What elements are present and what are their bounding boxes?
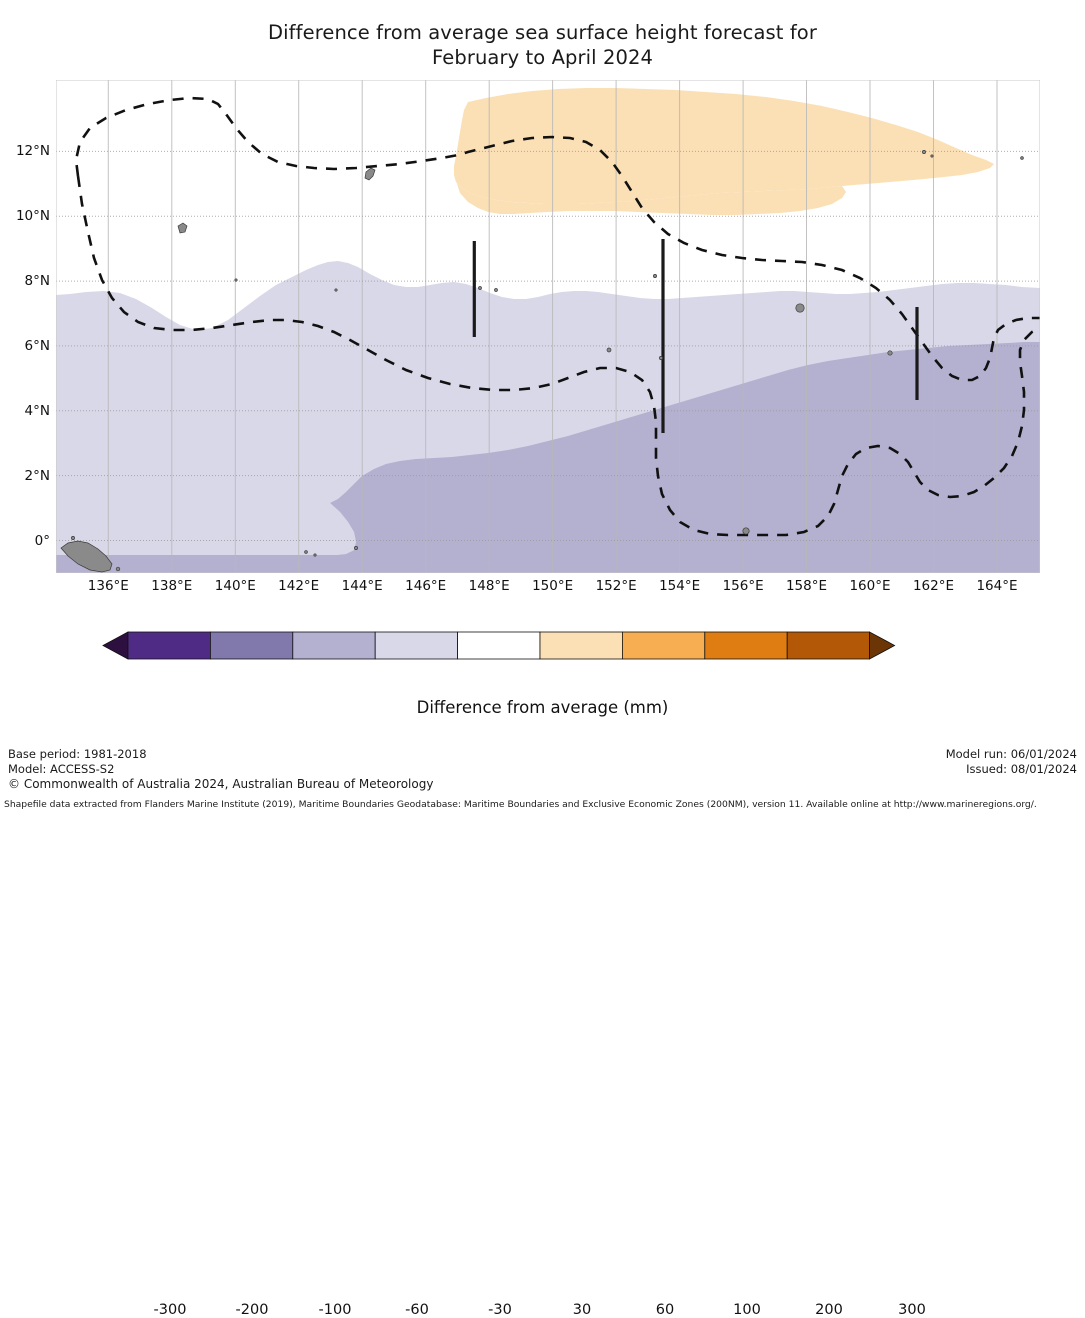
map-plot-area bbox=[56, 80, 1040, 573]
colorbar-tick-label: -100 bbox=[319, 1302, 352, 1318]
y-tick-label: 2°N bbox=[25, 468, 50, 484]
x-tick-label: 160°E bbox=[849, 578, 890, 594]
y-tick-label: 8°N bbox=[25, 273, 50, 289]
footer-right: Model run: 06/01/2024 Issued: 08/01/2024 bbox=[946, 747, 1077, 776]
x-tick-label: 140°E bbox=[215, 578, 256, 594]
colorbar-tick-label: 300 bbox=[898, 1302, 926, 1318]
colorbar-tick-label: -300 bbox=[154, 1302, 187, 1318]
x-tick-label: 148°E bbox=[469, 578, 510, 594]
colorbar-axis-label: Difference from average (mm) bbox=[0, 698, 1085, 717]
sea-surface-height-forecast-figure: Difference from average sea surface heig… bbox=[0, 0, 1085, 816]
colorbar-swatch-30-60 bbox=[540, 632, 622, 659]
colorbar-tick-label: -60 bbox=[405, 1302, 429, 1318]
x-tick-label: 152°E bbox=[596, 578, 637, 594]
colorbar-extend-high bbox=[870, 632, 895, 659]
colorbar-swatch-n30-30 bbox=[458, 632, 540, 659]
y-tick-label: 6°N bbox=[25, 338, 50, 354]
colorbar-swatch-100-200 bbox=[705, 632, 787, 659]
colorbar-swatch-n60-n30 bbox=[375, 632, 457, 659]
colorbar-tick-label: 30 bbox=[573, 1302, 591, 1318]
model-run-text: Model run: 06/01/2024 bbox=[946, 747, 1077, 762]
x-tick-label: 158°E bbox=[786, 578, 827, 594]
title-line-1: Difference from average sea surface heig… bbox=[0, 20, 1085, 45]
base-period-text: Base period: 1981-2018 bbox=[8, 747, 147, 762]
page-title: Difference from average sea surface heig… bbox=[0, 20, 1085, 70]
colorbar-tick-label: 60 bbox=[656, 1302, 674, 1318]
colorbar-swatch-60-100 bbox=[622, 632, 704, 659]
x-tick-label: 138°E bbox=[151, 578, 192, 594]
colorbar-tick-label: 100 bbox=[733, 1302, 761, 1318]
x-tick-label: 162°E bbox=[913, 578, 954, 594]
colorbar-swatches bbox=[128, 632, 870, 659]
x-tick-label: 156°E bbox=[723, 578, 764, 594]
title-line-2: February to April 2024 bbox=[0, 45, 1085, 70]
x-tick-label: 146°E bbox=[405, 578, 446, 594]
issued-text: Issued: 08/01/2024 bbox=[946, 762, 1077, 777]
copyright-text: © Commonwealth of Australia 2024, Austra… bbox=[8, 777, 433, 791]
x-axis: 136°E 138°E 140°E 142°E 144°E 146°E 148°… bbox=[56, 578, 1040, 602]
y-tick-label: 0° bbox=[35, 533, 50, 549]
colorbar-canvas bbox=[0, 630, 1085, 690]
x-tick-label: 142°E bbox=[278, 578, 319, 594]
y-tick-label: 4°N bbox=[25, 403, 50, 419]
colorbar-extend-low bbox=[103, 632, 128, 659]
colorbar-tick-label: 200 bbox=[815, 1302, 843, 1318]
footer-left: Base period: 1981-2018 Model: ACCESS-S2 bbox=[8, 747, 147, 776]
y-axis: 12°N 10°N 8°N 6°N 4°N 2°N 0° bbox=[0, 80, 50, 573]
colorbar-swatch-n100-n60 bbox=[293, 632, 375, 659]
colorbar-swatch-n300-n200 bbox=[128, 632, 210, 659]
x-tick-label: 150°E bbox=[532, 578, 573, 594]
colorbar-tick-label: -30 bbox=[488, 1302, 512, 1318]
attribution-text: Shapefile data extracted from Flanders M… bbox=[4, 799, 1037, 810]
model-text: Model: ACCESS-S2 bbox=[8, 762, 147, 777]
colorbar-swatch-n200-n100 bbox=[210, 632, 292, 659]
colorbar-swatch-200-300 bbox=[787, 632, 869, 659]
x-tick-label: 154°E bbox=[659, 578, 700, 594]
y-tick-label: 12°N bbox=[16, 143, 50, 159]
colorbar-tick-label: -200 bbox=[236, 1302, 269, 1318]
x-tick-label: 136°E bbox=[88, 578, 129, 594]
map-canvas bbox=[56, 80, 1040, 573]
x-tick-label: 164°E bbox=[976, 578, 1017, 594]
x-tick-label: 144°E bbox=[342, 578, 383, 594]
y-tick-label: 10°N bbox=[16, 208, 50, 224]
